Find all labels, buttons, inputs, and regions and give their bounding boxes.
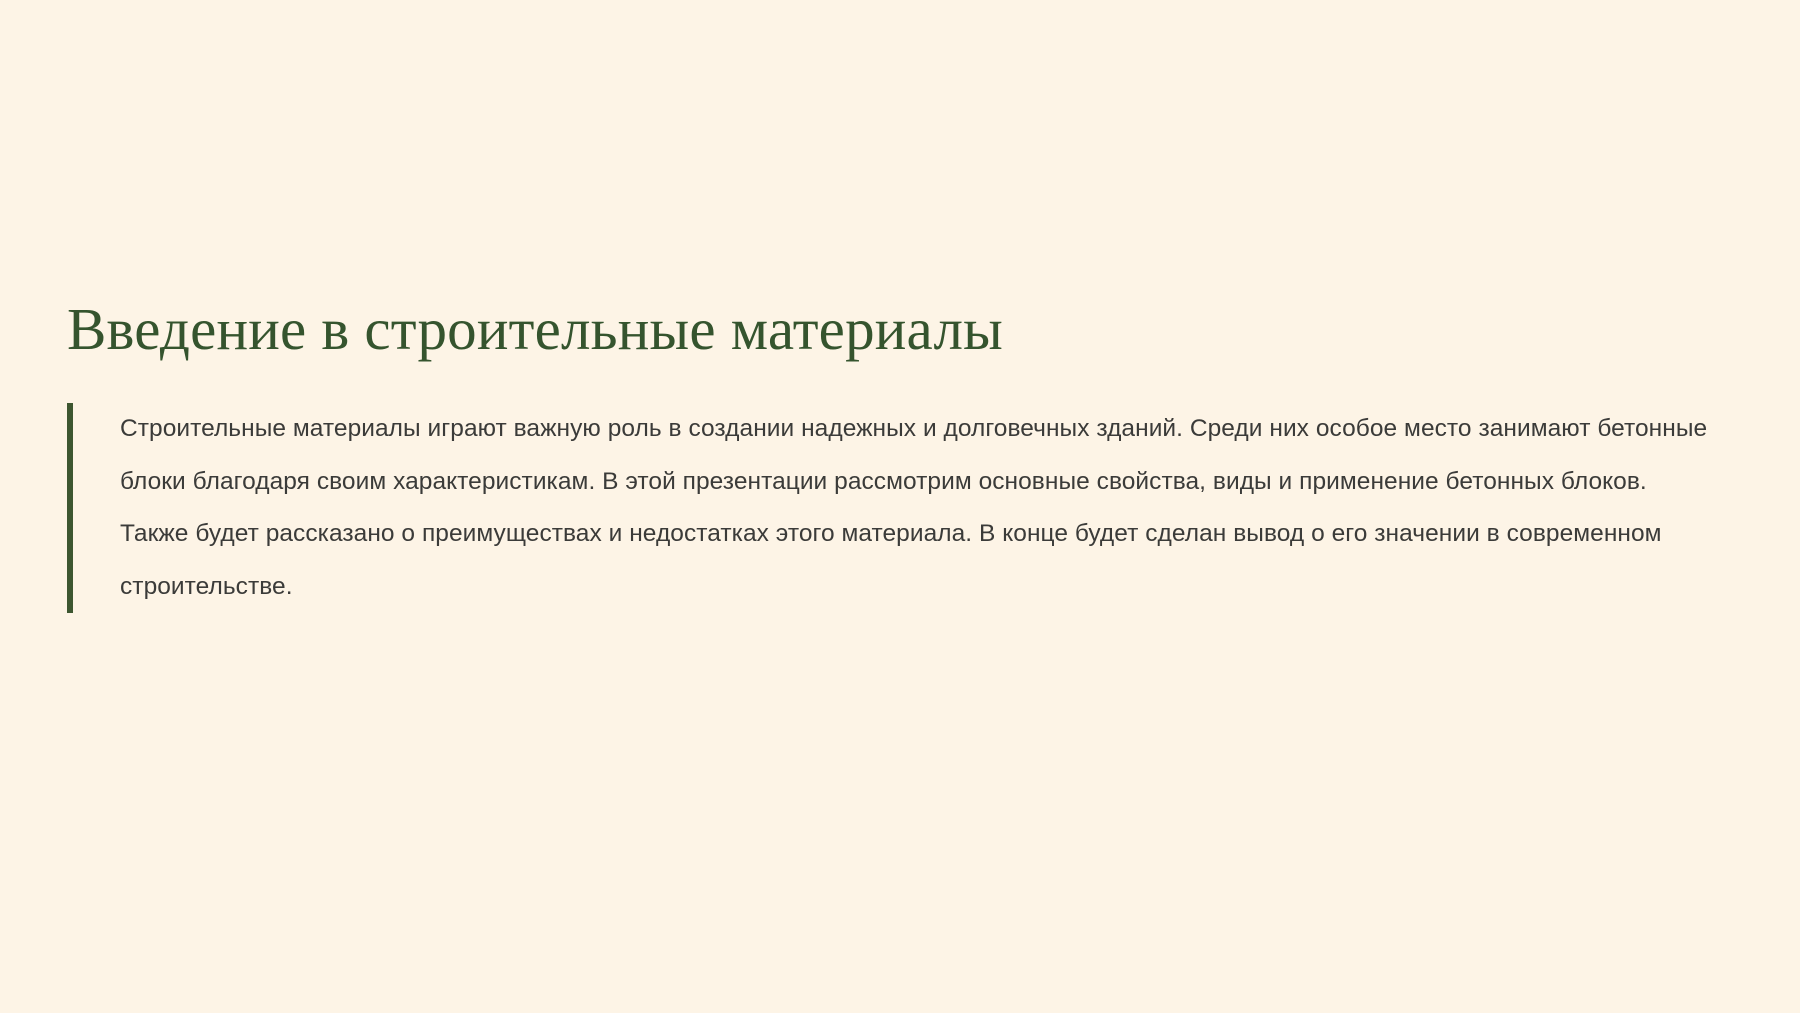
presentation-slide: Введение в строительные материалы Строит… bbox=[0, 0, 1800, 1013]
intro-paragraph: Строительные материалы играют важную рол… bbox=[73, 403, 1720, 613]
page-title: Введение в строительные материалы bbox=[67, 296, 1727, 363]
intro-quote-block: Строительные материалы играют важную рол… bbox=[67, 403, 1727, 613]
slide-content-column: Введение в строительные материалы Строит… bbox=[67, 296, 1727, 613]
